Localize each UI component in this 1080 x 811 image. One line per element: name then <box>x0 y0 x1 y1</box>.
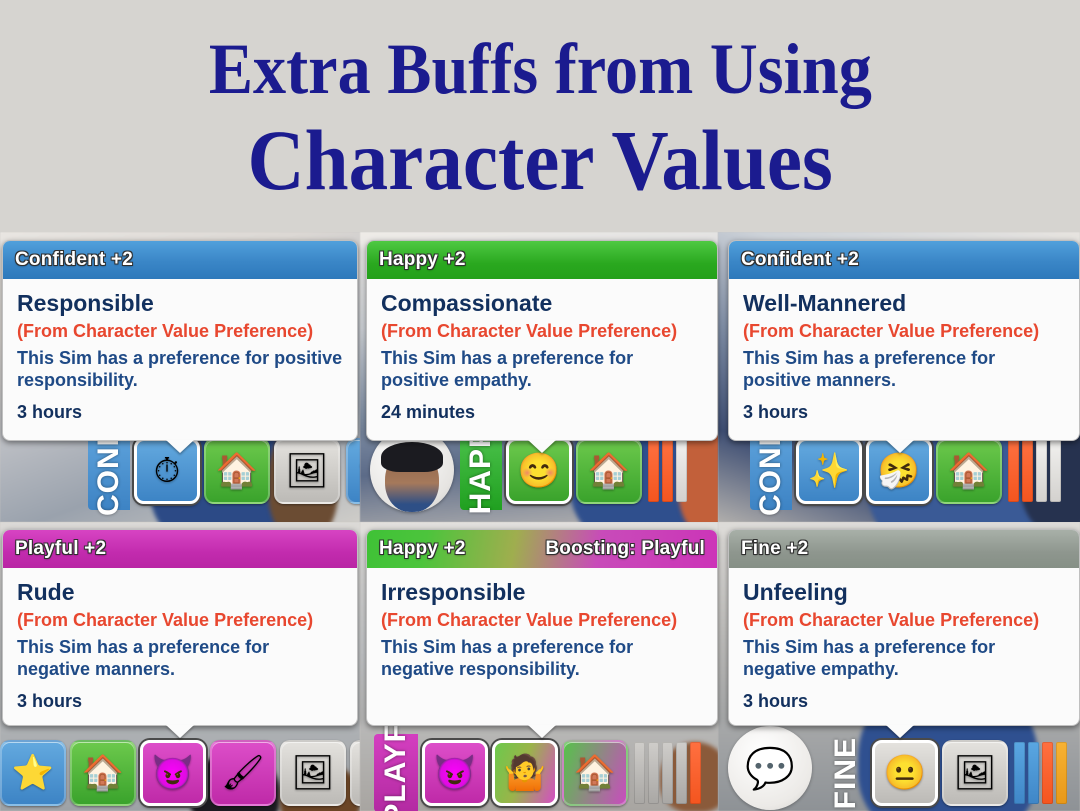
buff-duration: 3 hours <box>17 691 343 713</box>
moodlet-house-smile-icon[interactable]: 🏠 <box>936 438 1002 504</box>
moodlet-paintbrush-icon[interactable]: 🖌 <box>210 740 276 806</box>
buff-name: Irresponsible <box>381 580 703 606</box>
tooltip-tail <box>166 440 194 453</box>
house-smile-icon: 🏠 <box>574 756 616 790</box>
card-body: Irresponsible (From Character Value Pref… <box>367 568 717 705</box>
buff-name: Compassionate <box>381 291 703 317</box>
need-bar <box>1028 742 1039 804</box>
need-bar <box>662 742 673 804</box>
buff-description: This Sim has a preference for positive m… <box>743 348 1065 392</box>
moodlet-devil-face-icon[interactable]: 😈 <box>140 740 206 806</box>
mood-chip-playful[interactable]: PLAYF <box>374 734 418 811</box>
buff-name: Rude <box>17 580 343 606</box>
need-bar <box>662 440 673 502</box>
buff-tooltip-card[interactable]: Fine +2 Unfeeling (From Character Value … <box>728 529 1080 726</box>
avatar-hair <box>381 442 443 472</box>
card-body: Rude (From Character Value Preference) T… <box>3 568 357 726</box>
buff-tooltip-card[interactable]: Confident +2 Well-Mannered (From Charact… <box>728 240 1080 441</box>
mood-bar-6[interactable]: FINE 😐 🖼 <box>824 734 1067 811</box>
mood-bar-5[interactable]: PLAYF 😈 🤷 🏠 <box>374 734 701 811</box>
buff-name: Responsible <box>17 291 343 317</box>
tooltip-tail <box>528 440 556 453</box>
two-faces-icon: 😊 <box>518 454 560 488</box>
need-bar <box>690 742 701 804</box>
shrug-person-icon: 🤷 <box>504 756 546 790</box>
buff-duration: 3 hours <box>743 402 1065 424</box>
buff-name: Unfeeling <box>743 580 1065 606</box>
tooltip-tail <box>886 725 914 738</box>
card-header: Playful +2 <box>3 530 357 568</box>
need-bar <box>1014 742 1025 804</box>
buff-source: (From Character Value Preference) <box>743 610 1065 631</box>
mood-chip-confident[interactable]: CONF <box>750 432 792 510</box>
tooltip-tail <box>528 725 556 738</box>
moodlet-picture-frame-icon[interactable]: 🖼 <box>274 438 340 504</box>
mood-chip-label: FINE <box>829 737 863 809</box>
need-bar <box>676 440 687 502</box>
devil-face-icon: 😈 <box>152 756 194 790</box>
sneeze-face-icon: 🤧 <box>878 454 920 488</box>
card-header: Confident +2 <box>729 241 1079 279</box>
card-body: Responsible (From Character Value Prefer… <box>3 279 357 438</box>
mood-label: Fine +2 <box>741 538 808 560</box>
mood-label: Happy +2 <box>379 249 466 271</box>
moodlet-house-smile-icon[interactable]: 🏠 <box>562 740 628 806</box>
need-bar <box>676 742 687 804</box>
moodlet-devil-face-icon[interactable]: 😈 <box>422 740 488 806</box>
need-bar <box>634 742 645 804</box>
buff-source: (From Character Value Preference) <box>743 321 1065 342</box>
buff-name: Well-Mannered <box>743 291 1065 317</box>
house-smile-icon: 🏠 <box>948 454 990 488</box>
star-icon: ⭐ <box>12 756 54 790</box>
buff-description: This Sim has a preference for negative m… <box>17 637 317 681</box>
mood-label: Happy +2 <box>379 538 466 560</box>
picture-frame-icon: 🖼 <box>285 454 328 488</box>
need-bars-2 <box>648 440 687 502</box>
card-header: Happy +2 <box>367 241 717 279</box>
boost-label: Boosting: Playful <box>545 538 705 560</box>
screenshot-root: Extra Buffs from Using Character Values … <box>0 0 1080 811</box>
need-bars-3 <box>1008 440 1061 502</box>
buff-description: This Sim has a preference for negative r… <box>381 637 681 681</box>
mood-label: Playful +2 <box>15 538 106 560</box>
need-bars-6 <box>1014 742 1067 804</box>
page-title: Extra Buffs from Using Character Values <box>0 0 1080 232</box>
clock-sparkle-icon: ⏱ <box>154 454 181 488</box>
need-bar <box>1050 440 1061 502</box>
moodlet-house-smile-icon[interactable]: 🏠 <box>70 740 136 806</box>
buff-source: (From Character Value Preference) <box>381 610 703 631</box>
card-header: Happy +2 Boosting: Playful <box>367 530 717 568</box>
card-body: Well-Mannered (From Character Value Pref… <box>729 279 1079 438</box>
picture-frame-icon: 🖼 <box>291 756 334 790</box>
card-header: Confident +2 <box>3 241 357 279</box>
buff-description: This Sim has a preference for negative e… <box>743 637 1043 681</box>
devil-face-icon: 😈 <box>434 756 476 790</box>
speech-bubbles-icon: 💬 <box>745 745 795 792</box>
mood-label: Confident +2 <box>741 249 859 271</box>
buff-tooltip-card[interactable]: Playful +2 Rude (From Character Value Pr… <box>2 529 358 726</box>
buff-tooltip-card[interactable]: Confident +2 Responsible (From Character… <box>2 240 358 441</box>
need-bar <box>1022 440 1033 502</box>
mood-chip-fine[interactable]: FINE <box>824 734 868 811</box>
moodlet-house-smile-icon[interactable]: 🏠 <box>204 438 270 504</box>
card-body: Unfeeling (From Character Value Preferen… <box>729 568 1079 726</box>
sparkle-person-icon: ✨ <box>808 454 850 488</box>
need-bar <box>1042 742 1053 804</box>
house-smile-icon: 🏠 <box>588 454 630 488</box>
buff-duration: 3 hours <box>17 402 343 424</box>
tooltip-tail <box>166 725 194 738</box>
need-bar <box>648 742 659 804</box>
page-title-line-2: Character Values <box>247 117 832 203</box>
moodlet-picture-frame-icon[interactable]: 🖼 <box>942 740 1008 806</box>
card-header: Fine +2 <box>729 530 1079 568</box>
mood-chip-happy[interactable]: HAPP <box>460 432 502 510</box>
buff-source: (From Character Value Preference) <box>17 610 343 631</box>
buff-tooltip-card[interactable]: Happy +2 Compassionate (From Character V… <box>366 240 718 441</box>
mood-bar-4[interactable]: ⭐ 🏠 😈 🖌 🖼 💎 <box>0 734 416 811</box>
page-title-line-1: Extra Buffs from Using <box>208 33 871 105</box>
tooltip-tail <box>886 440 914 453</box>
avatar-face <box>385 448 439 512</box>
house-smile-icon: 🏠 <box>216 454 258 488</box>
speech-bubbles-avatar[interactable]: 💬 <box>728 726 812 810</box>
mood-chip-label: PLAYF <box>379 723 413 811</box>
buff-description: This Sim has a preference for positive r… <box>17 348 343 392</box>
need-bars-5 <box>634 742 701 804</box>
two-gray-faces-icon: 😐 <box>884 756 926 790</box>
buff-source: (From Character Value Preference) <box>17 321 343 342</box>
card-body: Compassionate (From Character Value Pref… <box>367 279 717 438</box>
moodlet-shrug-person-icon[interactable]: 🤷 <box>492 740 558 806</box>
need-bar <box>648 440 659 502</box>
moodlet-sparkle-person-icon[interactable]: ✨ <box>796 438 862 504</box>
buff-tooltip-card[interactable]: Happy +2 Boosting: Playful Irresponsible… <box>366 529 718 726</box>
moodlet-picture-frame-icon[interactable]: 🖼 <box>280 740 346 806</box>
need-bar <box>1056 742 1067 804</box>
buff-description: This Sim has a preference for positive e… <box>381 348 703 392</box>
house-smile-icon: 🏠 <box>82 756 124 790</box>
buff-duration: 3 hours <box>743 691 1065 713</box>
need-bar <box>1036 440 1047 502</box>
mood-label: Confident +2 <box>15 249 133 271</box>
moodlet-star-icon[interactable]: ⭐ <box>0 740 66 806</box>
mood-bar-2[interactable]: HAPP 😊 🏠 <box>460 432 687 510</box>
moodlet-two-gray-faces-icon[interactable]: 😐 <box>872 740 938 806</box>
paintbrush-icon: 🖌 <box>221 756 264 790</box>
buff-duration: 24 minutes <box>381 402 703 424</box>
mood-chip-confident[interactable]: CONF <box>88 432 130 510</box>
need-bar <box>1008 440 1019 502</box>
moodlet-house-smile-icon[interactable]: 🏠 <box>576 438 642 504</box>
picture-frame-icon: 🖼 <box>953 756 996 790</box>
buff-source: (From Character Value Preference) <box>381 321 703 342</box>
